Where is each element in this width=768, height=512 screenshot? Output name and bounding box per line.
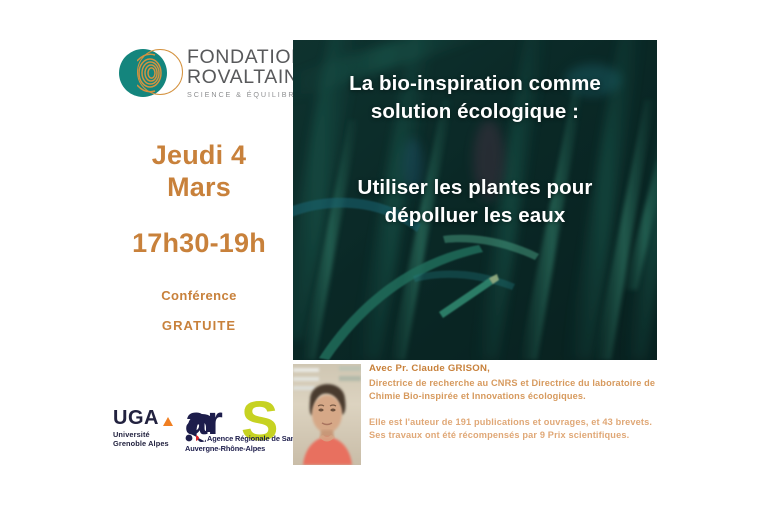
speaker-photo <box>293 364 361 465</box>
hero-title: La bio-inspiration comme solution écolog… <box>293 70 657 125</box>
speaker-details: Avec Pr. Claude GRISON, Directrice de re… <box>369 363 661 442</box>
uga-acronym-text: UGA <box>113 407 159 429</box>
event-price-label: GRATUITE <box>105 318 293 333</box>
brand-tagline: SCIENCE & ÉQUILIBRE <box>187 91 306 98</box>
event-date-line2: Mars <box>105 172 293 204</box>
speaker-role: Directrice de recherche au CNRS et Direc… <box>369 377 661 402</box>
uga-triangle-icon <box>163 417 173 426</box>
hero-title-line2: solution écologique : <box>301 98 649 126</box>
ars-subtitle-line1: Agence Régionale de Santé <box>207 434 301 443</box>
event-date-line1: Jeudi 4 <box>105 140 293 172</box>
speaker-name: Avec Pr. Claude GRISON, <box>369 363 661 376</box>
partner-logos: UGA Université Grenoble Alpes ar S <box>105 398 300 464</box>
fondation-rovaltain-logo: FONDATION ROVALTAIN SCIENCE & ÉQUILIBRE <box>119 45 306 101</box>
event-time: 17h30-19h <box>105 228 293 259</box>
orange-circle-outline-shape <box>137 49 183 95</box>
brand-wordmark: FONDATION ROVALTAIN SCIENCE & ÉQUILIBRE <box>187 48 306 98</box>
event-poster: FONDATION ROVALTAIN SCIENCE & ÉQUILIBRE … <box>0 0 768 512</box>
fingerprint-circles-icon <box>119 45 181 101</box>
brand-name-line2: ROVALTAIN <box>187 68 306 88</box>
left-info-column: FONDATION ROVALTAIN SCIENCE & ÉQUILIBRE … <box>105 40 293 470</box>
event-type-label: Conférence <box>161 288 237 303</box>
event-type-block: Conférence GRATUITE <box>105 288 293 333</box>
ars-logo: ar S Agence Régionale de Santé Auvergne-… <box>183 398 301 460</box>
hero-subtitle: Utiliser les plantes pour dépolluer les … <box>293 174 657 229</box>
uga-acronym: UGA <box>113 408 183 429</box>
hero-subtitle-line1: Utiliser les plantes pour <box>301 174 649 202</box>
event-date: Jeudi 4 Mars <box>105 140 293 204</box>
hero-subtitle-line2: dépolluer les eaux <box>301 202 649 230</box>
uga-subtitle: Université Grenoble Alpes <box>113 431 183 448</box>
ars-subtitle-line2: Auvergne-Rhône-Alpes <box>185 444 265 453</box>
speaker-awards: Elle est l'auteur de 191 publications et… <box>369 416 661 441</box>
brand-name-line1: FONDATION <box>187 48 306 68</box>
uga-subtitle-line2: Grenoble Alpes <box>113 440 183 449</box>
hero-title-line1: La bio-inspiration comme <box>301 70 649 98</box>
ars-dots-icon <box>185 434 207 442</box>
speaker-portrait-illustration <box>293 364 361 465</box>
uga-logo: UGA Université Grenoble Alpes <box>113 408 183 448</box>
hero-image: La bio-inspiration comme solution écolog… <box>293 40 657 360</box>
